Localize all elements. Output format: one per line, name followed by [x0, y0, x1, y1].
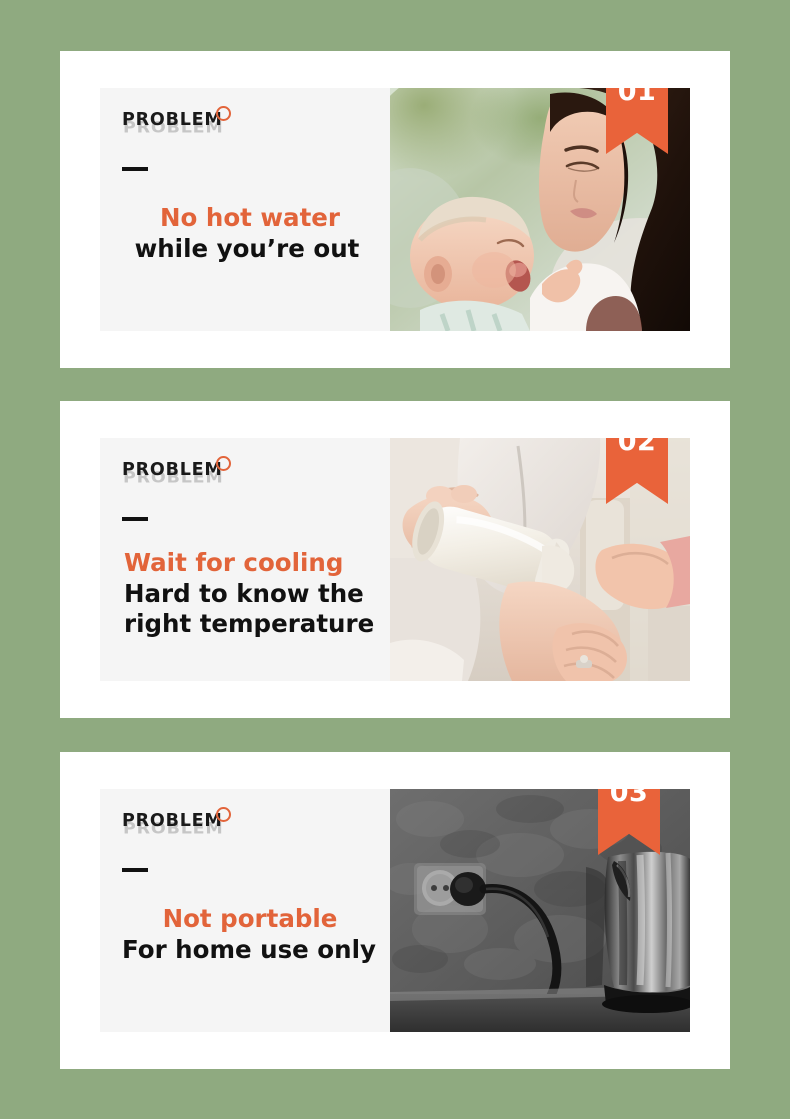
- headline-dark: For home use only: [122, 936, 390, 965]
- problem-card: PROBLEM PROBLEM No hot water while you’r…: [60, 51, 730, 368]
- problem-card: PROBLEM PROBLEM Wait for cooling Hard to…: [60, 401, 730, 718]
- card-photo: 03: [390, 789, 690, 1032]
- problem-label-text: PROBLEM: [122, 811, 223, 831]
- circle-accent-icon: [216, 106, 231, 121]
- headline-dark: while you’re out: [122, 235, 390, 264]
- card-inner: PROBLEM PROBLEM No hot water while you’r…: [100, 88, 690, 331]
- headline: Wait for cooling Hard to know the right …: [122, 549, 390, 639]
- divider-rule: [122, 167, 148, 171]
- text-panel: PROBLEM PROBLEM No hot water while you’r…: [100, 88, 390, 331]
- divider-rule: [122, 517, 148, 521]
- card-photo: 02: [390, 438, 690, 681]
- problem-label: PROBLEM PROBLEM: [122, 811, 223, 839]
- circle-accent-icon: [216, 456, 231, 471]
- text-panel: PROBLEM PROBLEM Not portable For home us…: [100, 789, 390, 1032]
- card-inner: PROBLEM PROBLEM Wait for cooling Hard to…: [100, 438, 690, 681]
- problem-label-text: PROBLEM: [122, 460, 223, 480]
- headline-dark-line-2: right temperature: [122, 610, 390, 639]
- page-root: PROBLEM PROBLEM No hot water while you’r…: [0, 0, 790, 1119]
- headline-accent: Not portable: [122, 905, 390, 934]
- headline: No hot water while you’re out: [122, 204, 390, 263]
- card-photo: 01: [390, 88, 690, 331]
- headline-accent: Wait for cooling: [122, 549, 390, 578]
- headline: Not portable For home use only: [122, 905, 390, 964]
- problem-card: PROBLEM PROBLEM Not portable For home us…: [60, 752, 730, 1069]
- headline-dark-line-1: Hard to know the: [122, 580, 390, 609]
- divider-rule: [122, 868, 148, 872]
- headline-accent: No hot water: [122, 204, 390, 233]
- circle-accent-icon: [216, 807, 231, 822]
- text-panel: PROBLEM PROBLEM Wait for cooling Hard to…: [100, 438, 390, 681]
- problem-label: PROBLEM PROBLEM: [122, 110, 223, 138]
- card-inner: PROBLEM PROBLEM Not portable For home us…: [100, 789, 690, 1032]
- problem-label-text: PROBLEM: [122, 110, 223, 130]
- problem-label: PROBLEM PROBLEM: [122, 460, 223, 488]
